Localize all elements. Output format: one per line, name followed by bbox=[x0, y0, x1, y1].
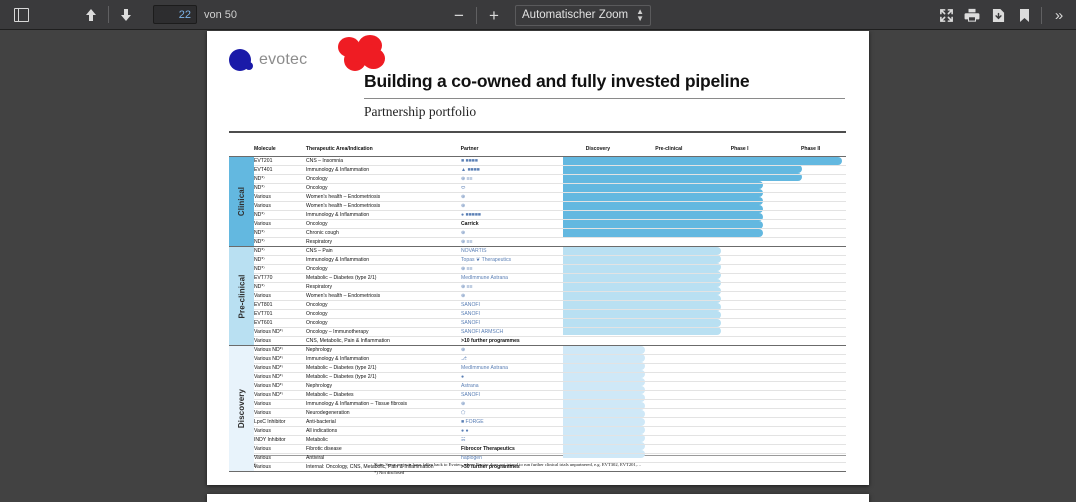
cell-molecule: Various ND*⁾ bbox=[254, 356, 306, 362]
cell-molecule: ND*⁾ bbox=[254, 212, 306, 218]
table-row: EVT770Metabolic – Diabetes (type 2/1)Med… bbox=[229, 274, 846, 283]
cell-therapeutic-area: Nephrology bbox=[306, 347, 461, 353]
cell-molecule: EVT201 bbox=[254, 158, 306, 164]
sidebar-icon bbox=[14, 8, 29, 22]
cell-partner: ⎇ bbox=[461, 356, 563, 362]
cell-molecule: Various bbox=[254, 221, 306, 227]
cell-partner: ⊕ bbox=[461, 203, 563, 209]
cell-therapeutic-area: Oncology bbox=[306, 266, 461, 272]
cell-therapeutic-area: CNS – Pain bbox=[306, 248, 461, 254]
cell-molecule: Various bbox=[254, 293, 306, 299]
partner-logo-icon: ● ● bbox=[461, 428, 469, 434]
arrow-up-icon bbox=[85, 8, 97, 22]
cell-therapeutic-area: Immunology & Inflammation – Tissue fibro… bbox=[306, 401, 461, 407]
cell-partner: SANOFI bbox=[461, 302, 563, 308]
cell-molecule: ND*⁾ bbox=[254, 266, 306, 272]
toolbar-divider-2 bbox=[476, 7, 477, 24]
cell-molecule: Various ND*⁾ bbox=[254, 329, 306, 335]
printer-icon bbox=[964, 8, 980, 22]
table-row: VariousNeurodegeneration⬠ bbox=[229, 409, 846, 418]
pdf-page-22: evotec Building a co-owned and fully inv… bbox=[207, 31, 869, 485]
cell-therapeutic-area: Anti-bacterial bbox=[306, 419, 461, 425]
slide-header: Building a co-owned and fully invested p… bbox=[364, 71, 845, 120]
cell-partner: ⊕ ≡≡ bbox=[461, 176, 563, 182]
partner-logo-icon: ▲ ■■■■ bbox=[461, 167, 480, 173]
toolbar-divider bbox=[108, 6, 109, 23]
category-label-text: Pre-clinical bbox=[237, 274, 246, 318]
partner-logo-icon: ⎇ bbox=[461, 356, 467, 362]
cell-partner: ⬭ bbox=[461, 185, 563, 192]
partner-logo-icon: ■ FORGE bbox=[461, 419, 484, 425]
table-row: VariousFibrotic diseaseFibrocor Therapeu… bbox=[229, 445, 846, 454]
table-row: ND*⁾Respiratory⊕ ≡≡ bbox=[229, 238, 846, 246]
toolbar-divider-3 bbox=[1041, 7, 1042, 24]
partner-logo-icon: Carrick bbox=[461, 221, 479, 227]
cell-molecule: ND*⁾ bbox=[254, 284, 306, 290]
cell-therapeutic-area: Immunology & Inflammation bbox=[306, 212, 461, 218]
partner-logo-icon: ⬠ bbox=[461, 410, 465, 416]
cell-molecule: Various bbox=[254, 203, 306, 209]
table-row: ND*⁾Oncology⊕ ≡≡ bbox=[229, 265, 846, 274]
partner-logo-icon: ⊕ ≡≡ bbox=[461, 266, 473, 272]
cell-molecule: EVT801 bbox=[254, 302, 306, 308]
table-row: EVT201CNS – Insomnia■ ■■■■ bbox=[229, 157, 846, 166]
category-label-discovery: Discovery bbox=[229, 346, 254, 471]
zoom-out-button[interactable]: − bbox=[446, 3, 472, 27]
partner-logo-icon: SANOFI bbox=[461, 392, 480, 398]
cell-therapeutic-area: Antiviral bbox=[306, 455, 461, 461]
cell-partner: ● bbox=[461, 374, 563, 380]
table-row: VariousAntiviralhaplogen bbox=[229, 454, 846, 463]
table-row: VariousAll indications● ● bbox=[229, 427, 846, 436]
cell-molecule: Various ND*⁾ bbox=[254, 374, 306, 380]
more-tools-button[interactable]: » bbox=[1046, 3, 1072, 27]
cell-molecule: ND*⁾ bbox=[254, 239, 306, 245]
cell-partner: ⊕ bbox=[461, 230, 563, 236]
table-row: VariousWomen's health – Endometriosis⊕ bbox=[229, 292, 846, 301]
cell-partner: ⊕ ≡≡ bbox=[461, 239, 563, 245]
table-row: VariousWomen's health – Endometriosis⊕ bbox=[229, 202, 846, 211]
cell-partner: Astrana bbox=[461, 383, 563, 389]
table-row: ND*⁾Chronic cough⊕ bbox=[229, 229, 846, 238]
table-row: LpxC InhibitorAnti-bacterial■ FORGE bbox=[229, 418, 846, 427]
partner-logo-icon: haplogen bbox=[461, 455, 482, 461]
cell-therapeutic-area: Oncology bbox=[306, 302, 461, 308]
red-cross-mark-icon bbox=[338, 35, 394, 73]
download-button[interactable] bbox=[985, 3, 1011, 27]
slide-subtitle: Partnership portfolio bbox=[364, 104, 845, 120]
cell-therapeutic-area: CNS – Insomnia bbox=[306, 158, 461, 164]
title-underline bbox=[364, 98, 845, 99]
partner-logo-icon: ⊕ bbox=[461, 347, 465, 353]
cell-molecule: EVT401 bbox=[254, 167, 306, 173]
category-label-text: Discovery bbox=[237, 389, 246, 428]
cell-molecule: Various bbox=[254, 464, 306, 470]
partner-logo-icon: ■ ■■■■ bbox=[461, 158, 478, 164]
cell-partner: >30 further programmes bbox=[461, 464, 563, 470]
cell-therapeutic-area: Immunology & Inflammation bbox=[306, 167, 461, 173]
partner-logo-icon: Fibrocor Therapeutics bbox=[461, 446, 515, 452]
col-header-phase1: Phase I bbox=[704, 146, 775, 156]
cell-therapeutic-area: Fibrotic disease bbox=[306, 446, 461, 452]
cell-therapeutic-area: Metabolic – Diabetes (type 2/1) bbox=[306, 365, 461, 371]
table-row: Various ND*⁾Oncology – ImmunotherapySANO… bbox=[229, 328, 846, 337]
bookmark-icon bbox=[1019, 8, 1030, 23]
zoom-select[interactable]: Automatischer Zoom ▲▼ bbox=[515, 5, 651, 26]
cell-molecule: Various bbox=[254, 194, 306, 200]
cell-therapeutic-area: Neurodegeneration bbox=[306, 410, 461, 416]
table-row: EVT701OncologySANOFI bbox=[229, 310, 846, 319]
previous-page-button[interactable] bbox=[78, 3, 104, 27]
table-row: Various ND*⁾Metabolic – Diabetes (type 2… bbox=[229, 373, 846, 382]
cell-therapeutic-area: Chronic cough bbox=[306, 230, 461, 236]
cell-therapeutic-area: Immunology & Inflammation bbox=[306, 356, 461, 362]
table-body: ClinicalEVT201CNS – Insomnia■ ■■■■EVT401… bbox=[229, 156, 846, 472]
table-row: EVT601OncologySANOFI bbox=[229, 319, 846, 328]
cell-molecule: ND*⁾ bbox=[254, 230, 306, 236]
table-row: INDY InhibitorMetabolic☵ bbox=[229, 436, 846, 445]
cell-molecule: INDY Inhibitor bbox=[254, 437, 306, 443]
partner-logo-icon: >10 further programmes bbox=[461, 338, 520, 344]
table-row: VariousOncologyCarrick bbox=[229, 220, 846, 229]
cell-therapeutic-area: Metabolic – Diabetes (type 2/1) bbox=[306, 374, 461, 380]
cell-partner: SANOFI bbox=[461, 311, 563, 317]
cell-therapeutic-area: Metabolic bbox=[306, 437, 461, 443]
col-header-phase2: Phase II bbox=[775, 146, 846, 156]
cell-partner: ⬠ bbox=[461, 410, 563, 416]
table-row: ND*⁾Oncology⊕ ≡≡ bbox=[229, 175, 846, 184]
logo-circle-small-icon bbox=[245, 62, 253, 70]
table-row: Various ND*⁾Metabolic – Diabetes (type 2… bbox=[229, 364, 846, 373]
partner-logo-icon: Astrana bbox=[461, 383, 479, 389]
cell-molecule: Various bbox=[254, 410, 306, 416]
print-button[interactable] bbox=[959, 3, 985, 27]
pdf-viewer-area[interactable]: evotec Building a co-owned and fully inv… bbox=[0, 30, 1076, 502]
cell-therapeutic-area: CNS, Metabolic, Pain & Inflammation bbox=[306, 338, 461, 344]
cell-therapeutic-area: Women's health – Endometriosis bbox=[306, 194, 461, 200]
arrow-down-icon bbox=[120, 8, 132, 22]
cell-therapeutic-area: All indications bbox=[306, 428, 461, 434]
partner-logo-icon: SANOFI bbox=[461, 302, 480, 308]
partner-logo-icon: Topas ❦ Therapeutics bbox=[461, 257, 511, 263]
cell-partner: ⊕ ≡≡ bbox=[461, 266, 563, 272]
category-label-clinical: Clinical bbox=[229, 157, 254, 246]
download-icon bbox=[992, 8, 1005, 23]
table-row: ND*⁾CNS – PainNOVARTIS bbox=[229, 247, 846, 256]
cell-molecule: EVT770 bbox=[254, 275, 306, 281]
col-header-preclinical: Pre-clinical bbox=[633, 146, 704, 156]
partner-logo-icon: ☵ bbox=[461, 437, 466, 443]
table-row: EVT401Immunology & Inflammation▲ ■■■■ bbox=[229, 166, 846, 175]
cell-partner: ▲ ■■■■ bbox=[461, 167, 563, 173]
cell-partner: ⊕ bbox=[461, 194, 563, 200]
table-row: Various ND*⁾Metabolic – DiabetesSANOFI bbox=[229, 391, 846, 400]
pipeline-table: Molecule Therapeutic Area/Indication Par… bbox=[229, 146, 846, 472]
cell-therapeutic-area: Oncology bbox=[306, 221, 461, 227]
partner-logo-icon: SANOFI bbox=[461, 320, 480, 326]
header-separator bbox=[229, 131, 846, 133]
cell-partner: ⊕ bbox=[461, 293, 563, 299]
cell-therapeutic-area: Metabolic – Diabetes (type 2/1) bbox=[306, 275, 461, 281]
zoom-in-button[interactable]: + bbox=[481, 3, 507, 27]
table-row: Various ND*⁾Immunology & Inflammation⎇ bbox=[229, 355, 846, 364]
pdf-page-23-partial bbox=[207, 494, 869, 502]
cell-partner: Fibrocor Therapeutics bbox=[461, 446, 563, 452]
bookmark-button[interactable] bbox=[1011, 3, 1037, 27]
toolbar-left-group: 22 von 50 bbox=[0, 3, 237, 27]
cell-molecule: Various bbox=[254, 401, 306, 407]
toolbar-zoom-group: − + Automatischer Zoom ▲▼ bbox=[446, 0, 651, 30]
cell-therapeutic-area: Oncology bbox=[306, 185, 461, 191]
logo-wordmark: evotec bbox=[259, 51, 307, 69]
cell-molecule: EVT601 bbox=[254, 320, 306, 326]
cell-molecule: Various ND*⁾ bbox=[254, 392, 306, 398]
partner-logo-icon: ⊕ bbox=[461, 203, 465, 209]
partner-logo-icon: NOVARTIS bbox=[461, 248, 487, 254]
cell-partner: ● ■■■■■ bbox=[461, 212, 563, 218]
table-group-discovery: DiscoveryVarious ND*⁾Nephrology⊕Various … bbox=[229, 345, 846, 471]
col-header-partner: Partner bbox=[461, 146, 563, 156]
table-row: VariousInternal: Oncology, CNS, Metaboli… bbox=[229, 463, 846, 471]
cell-molecule: ND*⁾ bbox=[254, 248, 306, 254]
partner-logo-icon: >30 further programmes bbox=[461, 464, 520, 470]
cell-therapeutic-area: Respiratory bbox=[306, 284, 461, 290]
cell-partner: MedImmune Astrana bbox=[461, 365, 563, 371]
cell-molecule: Various ND*⁾ bbox=[254, 383, 306, 389]
cell-partner: Carrick bbox=[461, 221, 563, 227]
table-row: Various ND*⁾Nephrology⊕ bbox=[229, 346, 846, 355]
cell-molecule: Various bbox=[254, 455, 306, 461]
col-header-molecule: Molecule bbox=[254, 146, 306, 156]
cell-partner: haplogen bbox=[461, 455, 563, 461]
table-row: ND*⁾Immunology & Inflammation● ■■■■■ bbox=[229, 211, 846, 220]
cell-molecule: ND*⁾ bbox=[254, 185, 306, 191]
partner-logo-icon: MedImmune Astrana bbox=[461, 365, 508, 371]
sidebar-toggle-button[interactable] bbox=[8, 3, 34, 27]
cell-molecule: Various bbox=[254, 338, 306, 344]
page-total-label: von 50 bbox=[204, 9, 237, 21]
category-label-pre-clinical: Pre-clinical bbox=[229, 247, 254, 345]
zoom-select-value: Automatischer Zoom bbox=[522, 9, 628, 21]
partner-logo-icon: ⊕ ≡≡ bbox=[461, 284, 473, 290]
cell-partner: NOVARTIS bbox=[461, 248, 563, 254]
cell-therapeutic-area: Oncology bbox=[306, 311, 461, 317]
cell-partner: ⊕ ≡≡ bbox=[461, 284, 563, 290]
partner-logo-icon: ⊕ bbox=[461, 230, 465, 236]
page-number-input[interactable]: 22 bbox=[153, 5, 197, 24]
col-header-discovery: Discovery bbox=[562, 146, 633, 156]
cell-molecule: Various bbox=[254, 428, 306, 434]
cell-partner: ■ FORGE bbox=[461, 419, 563, 425]
cell-therapeutic-area: Women's health – Endometriosis bbox=[306, 293, 461, 299]
fullscreen-icon bbox=[939, 8, 954, 23]
fullscreen-button[interactable] bbox=[933, 3, 959, 27]
cell-therapeutic-area: Women's health – Endometriosis bbox=[306, 203, 461, 209]
cell-partner: ⊕ bbox=[461, 401, 563, 407]
cell-molecule: Various bbox=[254, 446, 306, 452]
partner-logo-icon: ● bbox=[461, 374, 464, 380]
partner-logo-icon: ⊕ ≡≡ bbox=[461, 176, 473, 182]
partner-logo-icon: ⊕ bbox=[461, 401, 465, 407]
table-group-pre-clinical: Pre-clinicalND*⁾CNS – PainNOVARTISND*⁾Im… bbox=[229, 246, 846, 345]
cell-molecule: LpxC Inhibitor bbox=[254, 419, 306, 425]
table-row: VariousImmunology & Inflammation – Tissu… bbox=[229, 400, 846, 409]
cell-partner: MedImmune Astrana bbox=[461, 275, 563, 281]
partner-logo-icon: ● ■■■■■ bbox=[461, 212, 481, 218]
cell-partner: SANOFI ARMSCH bbox=[461, 329, 563, 335]
partner-logo-icon: ⊕ bbox=[461, 293, 465, 299]
partner-logo-icon: ⊕ bbox=[461, 194, 465, 200]
cell-therapeutic-area: Nephrology bbox=[306, 383, 461, 389]
table-row: ND*⁾Respiratory⊕ ≡≡ bbox=[229, 283, 846, 292]
table-row: VariousCNS, Metabolic, Pain & Inflammati… bbox=[229, 337, 846, 345]
partner-logo-icon: ⬭ bbox=[461, 185, 465, 191]
cell-molecule: ND*⁾ bbox=[254, 176, 306, 182]
cell-partner: ☵ bbox=[461, 437, 563, 443]
cell-partner: >10 further programmes bbox=[461, 338, 563, 344]
cell-partner: Topas ❦ Therapeutics bbox=[461, 257, 563, 263]
cell-therapeutic-area: Immunology & Inflammation bbox=[306, 257, 461, 263]
table-group-clinical: ClinicalEVT201CNS – Insomnia■ ■■■■EVT401… bbox=[229, 157, 846, 246]
cell-therapeutic-area: Respiratory bbox=[306, 239, 461, 245]
cell-therapeutic-area: Oncology bbox=[306, 320, 461, 326]
toolbar-right-group: » bbox=[933, 0, 1072, 30]
category-label-text: Clinical bbox=[237, 187, 246, 216]
cell-molecule: Various ND*⁾ bbox=[254, 365, 306, 371]
pdf-toolbar: 22 von 50 − + Automatischer Zoom ▲▼ bbox=[0, 0, 1076, 30]
partner-logo-icon: MedImmune Astrana bbox=[461, 275, 508, 281]
table-row: VariousWomen's health – Endometriosis⊕ bbox=[229, 193, 846, 202]
chevron-updown-icon: ▲▼ bbox=[636, 8, 644, 22]
cell-therapeutic-area: Internal: Oncology, CNS, Metabolic, Pain… bbox=[306, 464, 461, 470]
cell-partner: ■ ■■■■ bbox=[461, 158, 563, 164]
partner-logo-icon: SANOFI ARMSCH bbox=[461, 329, 503, 335]
cell-therapeutic-area: Oncology bbox=[306, 176, 461, 182]
cell-therapeutic-area: Metabolic – Diabetes bbox=[306, 392, 461, 398]
cell-therapeutic-area: Oncology – Immunotherapy bbox=[306, 329, 461, 335]
table-row: EVT801OncologySANOFI bbox=[229, 301, 846, 310]
cell-partner: ● ● bbox=[461, 428, 563, 434]
evotec-logo: evotec bbox=[229, 49, 307, 71]
cell-molecule: Various ND*⁾ bbox=[254, 347, 306, 353]
table-column-headers: Molecule Therapeutic Area/Indication Par… bbox=[229, 146, 846, 156]
table-row: ND*⁾Oncology⬭ bbox=[229, 184, 846, 193]
cell-molecule: ND*⁾ bbox=[254, 257, 306, 263]
table-row: ND*⁾Immunology & InflammationTopas ❦ The… bbox=[229, 256, 846, 265]
cell-partner: SANOFI bbox=[461, 392, 563, 398]
cell-partner: SANOFI bbox=[461, 320, 563, 326]
table-row: Various ND*⁾NephrologyAstrana bbox=[229, 382, 846, 391]
partner-logo-icon: SANOFI bbox=[461, 311, 480, 317]
partner-logo-icon: ⊕ ≡≡ bbox=[461, 239, 473, 245]
next-page-button[interactable] bbox=[113, 3, 139, 27]
slide-title: Building a co-owned and fully invested p… bbox=[364, 71, 845, 92]
cell-molecule: EVT701 bbox=[254, 311, 306, 317]
col-header-therapeutic: Therapeutic Area/Indication bbox=[306, 146, 461, 156]
cell-partner: ⊕ bbox=[461, 347, 563, 353]
